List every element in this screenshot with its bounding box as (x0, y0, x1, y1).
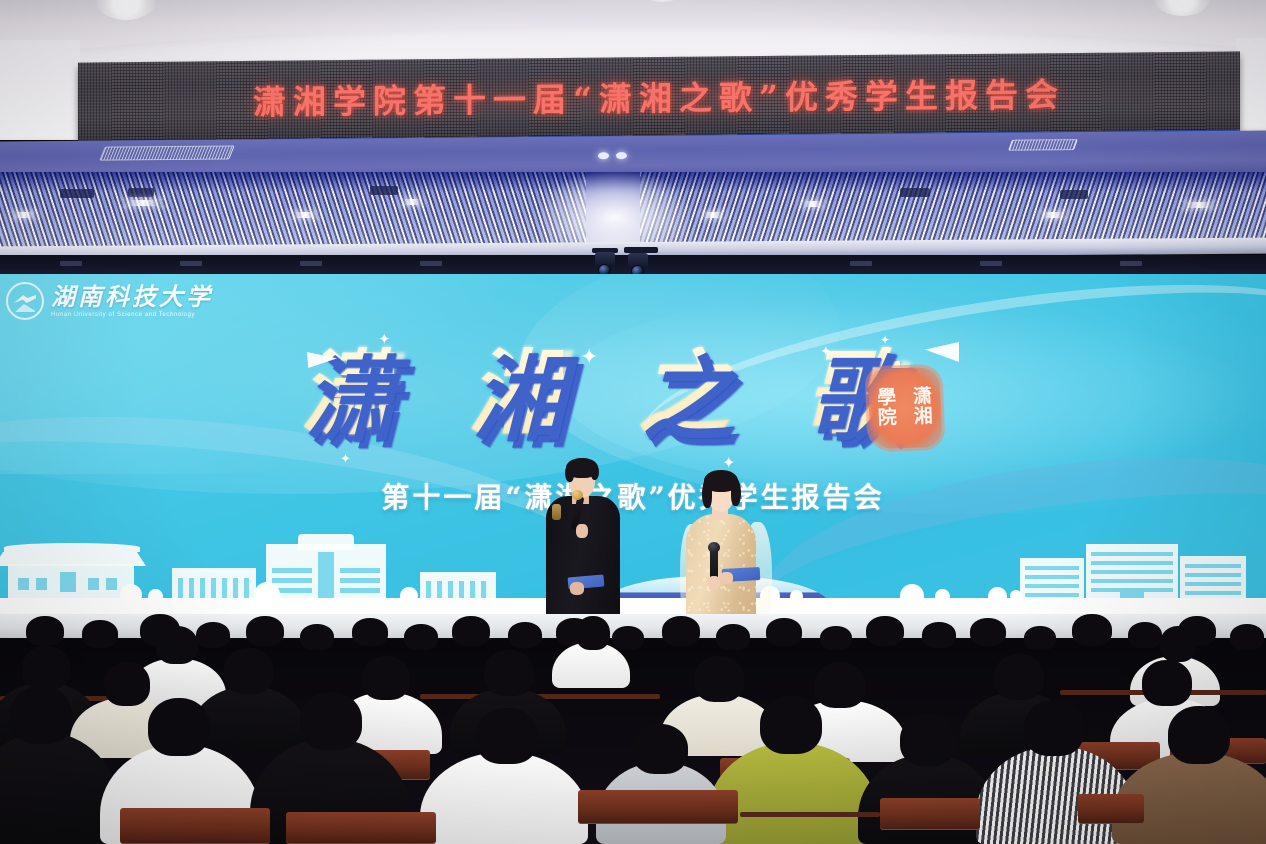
audience-head (1024, 700, 1084, 756)
university-name-en: Hunan University of Science and Technolo… (51, 312, 213, 318)
audience-head (820, 626, 852, 650)
audience-head (476, 708, 538, 764)
campus-building-main (1086, 544, 1178, 606)
sparkle-icon: ✦ (340, 452, 351, 465)
audience-head (1230, 624, 1264, 650)
louver-light (1180, 202, 1218, 208)
male-host-hand (570, 582, 584, 595)
led-banner: 潇湘学院第十一届“潇湘之歌”优秀学生报告会 (78, 51, 1240, 140)
seal-char: 湘 (913, 407, 933, 428)
audience-head (26, 616, 64, 646)
audience-head (452, 616, 490, 646)
audience-head (866, 616, 904, 646)
auditorium-seat (1078, 794, 1144, 824)
audience-head (632, 724, 688, 774)
event-seal-stamp: 學 潇 院 湘 (868, 367, 943, 449)
suit-shoulder-trim (552, 504, 561, 520)
foam-bubble (935, 589, 950, 604)
audience-head (104, 662, 150, 706)
sparkle-icon: ✦ (580, 346, 598, 368)
auditorium-photo: 潇湘学院第十一届“潇湘之歌”优秀学生报告会 (0, 0, 1266, 844)
louver-light (400, 199, 424, 205)
louvered-metal-ceiling (0, 172, 1266, 248)
auditorium-seat (880, 798, 980, 830)
pagoda-roof (4, 543, 140, 552)
foam-bubble (900, 584, 924, 608)
seal-char: 院 (878, 408, 898, 429)
louver-light (10, 212, 38, 218)
foam-bubble (790, 590, 803, 603)
title-char: 湘 (469, 347, 563, 439)
sparkle-icon: ✦ (378, 332, 391, 347)
audience-head (82, 620, 118, 648)
event-subtitle: 第十一届“潇湘之歌”优秀学生报告会 (0, 476, 1266, 516)
campus-building-main (266, 544, 386, 606)
audience-head (484, 650, 534, 696)
foam-bubble (988, 587, 1007, 606)
audience-head (156, 626, 198, 664)
audience-head (1142, 660, 1192, 706)
audience-head (300, 624, 334, 650)
louver-light (1038, 212, 1068, 218)
female-host-hand (708, 576, 720, 589)
audience-head (246, 616, 284, 646)
louver-light (120, 200, 166, 206)
audience-head (10, 686, 72, 744)
audience-head (1168, 706, 1230, 764)
audience-head (224, 648, 274, 694)
audience-head (352, 618, 388, 646)
title-char: 之 (637, 347, 731, 439)
female-host-hair-side (702, 478, 712, 508)
audience-head (576, 616, 610, 650)
hnust-mountain-logo-icon (6, 282, 44, 320)
audience-head (766, 618, 802, 646)
foam-bubble (254, 582, 280, 608)
beam-spotlight (598, 152, 609, 159)
led-banner-text: 潇湘学院第十一届“潇湘之歌”优秀学生报告会 (78, 51, 1240, 140)
seated-student-audience (0, 612, 1266, 844)
audience-head (970, 618, 1006, 646)
foam-bubble (148, 589, 163, 604)
louver-light (290, 212, 320, 218)
audience-head (300, 692, 362, 750)
louver-center-glare (540, 172, 690, 248)
audience-head (148, 698, 210, 756)
audience-head (362, 656, 410, 700)
audience-head (760, 696, 822, 754)
foam-bubble (120, 584, 142, 606)
foam-bubble (400, 587, 418, 605)
beam-spotlight (616, 152, 627, 159)
beam-vent (99, 145, 235, 160)
male-host-hand (576, 524, 588, 538)
male-host-hair-side (565, 464, 574, 482)
auditorium-seat (578, 790, 738, 824)
male-host-hair-side (591, 464, 599, 480)
audience-head (196, 622, 230, 648)
seat-rail (740, 812, 880, 817)
auditorium-seat (120, 808, 270, 844)
audience-head (814, 662, 866, 708)
side-wall-right (1236, 38, 1266, 140)
campus-building-silhouettes (0, 504, 1266, 624)
university-name-cn: 湖南科技大学 (51, 285, 213, 309)
microphone-head (572, 490, 583, 500)
audience-head (662, 616, 700, 646)
louver-light (800, 201, 826, 207)
audience-head (922, 622, 956, 648)
building-tower (298, 534, 354, 550)
foam-bubble (1010, 590, 1022, 602)
louver-fixture (60, 189, 94, 198)
stage-led-screen: 湖南科技大学 Hunan University of Science and T… (0, 274, 1266, 624)
louver-fixture (370, 186, 398, 195)
louver-fixture (1060, 190, 1088, 199)
female-host-hair-side (731, 478, 741, 506)
audience-head (22, 646, 70, 690)
microphone-head (708, 542, 720, 553)
louver-light (700, 212, 726, 218)
audience-head (716, 624, 750, 650)
audience-head (1128, 622, 1162, 648)
audience-head (612, 626, 644, 650)
university-logo: 湖南科技大学 Hunan University of Science and T… (6, 282, 213, 320)
female-host-hand (720, 572, 733, 584)
audience-head (994, 654, 1044, 700)
auditorium-seat (286, 812, 436, 844)
sparkle-icon: ✦ (880, 334, 890, 346)
side-wall-left (0, 40, 80, 140)
sparkle-icon: ✦ (820, 344, 832, 358)
audience-head (1072, 614, 1112, 646)
audience-head (404, 624, 438, 650)
louver-fixture (128, 188, 154, 197)
louver-fixture (900, 188, 930, 197)
audience-head (900, 714, 956, 766)
audience-head (1024, 626, 1056, 650)
audience-head (1160, 626, 1196, 662)
event-title-calligraphy: 潇 湘 之 歌 (300, 338, 900, 448)
audience-head (508, 622, 542, 648)
beam-vent (1008, 139, 1078, 151)
audience-head (694, 656, 744, 702)
